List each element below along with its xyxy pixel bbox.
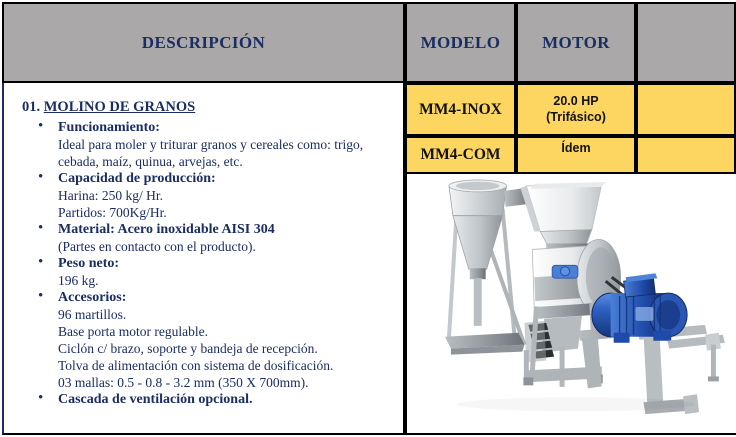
column-header-extra [636, 2, 736, 83]
spec-item: Material: Acero inoxidable AISI 304 (Par… [36, 221, 397, 255]
motor-power-value: Ídem [561, 141, 590, 157]
spec-line: 03 mallas: 0.5 - 0.8 - 3.2 mm (350 X 700… [58, 374, 397, 391]
column-header-motor-label: MOTOR [542, 33, 610, 53]
spec-line: Partidos: 700Kg/Hr. [58, 204, 397, 221]
spec-line: Base porta motor regulable. [58, 323, 397, 340]
spec-heading: Accesorios: [58, 289, 397, 306]
product-photo [405, 174, 736, 435]
table-row-model-1: MM4-COM [405, 136, 516, 174]
spec-heading: Cascada de ventilación opcional. [58, 391, 397, 408]
spec-line: (Partes en contacto con el producto). [58, 238, 397, 255]
spec-line: 96 martillos. [58, 306, 397, 323]
spec-heading: Funcionamiento: [58, 119, 397, 136]
motor-phase-value: (Trifásico) [546, 110, 606, 126]
column-header-modelo-label: MODELO [421, 33, 501, 53]
spec-line: Ideal para moler y triturar granos y cer… [58, 136, 397, 153]
table-row-extra-1 [636, 136, 736, 174]
table-row-model-0: MM4-INOX [405, 83, 516, 136]
column-header-motor: MOTOR [516, 2, 636, 83]
column-header-modelo: MODELO [405, 2, 516, 83]
spec-item: Cascada de ventilación opcional. [36, 391, 397, 408]
spec-line: Ciclón c/ brazo, soporte y bandeja de re… [58, 340, 397, 357]
spec-line: 196 kg. [58, 272, 397, 289]
table-row-motor-1: Ídem [516, 136, 636, 174]
table-row-motor-0: 20.0 HP (Trifásico) [516, 83, 636, 136]
grain-mill-machine-image [407, 174, 736, 433]
spec-item: Accesorios:96 martillos.Base porta motor… [36, 289, 397, 391]
spec-heading: Peso neto: [58, 255, 397, 272]
model-value: MM4-INOX [419, 101, 502, 119]
product-name: MOLINO DE GRANOS [44, 99, 195, 115]
description-cell: 01. MOLINO DE GRANOS Funcionamiento:Idea… [2, 83, 405, 435]
spec-item: Peso neto:196 kg. [36, 255, 397, 289]
spec-item: Capacidad de producción:Harina: 250 kg/ … [36, 170, 397, 221]
product-title: 01. MOLINO DE GRANOS [22, 99, 397, 116]
spec-list: Funcionamiento:Ideal para moler y tritur… [18, 119, 397, 408]
column-header-descripcion-label: DESCRIPCIÓN [142, 33, 265, 53]
spec-heading: Capacidad de producción: [58, 170, 397, 187]
spec-line: Harina: 250 kg/ Hr. [58, 187, 397, 204]
column-header-descripcion: DESCRIPCIÓN [2, 2, 405, 83]
table-row-extra-0 [636, 83, 736, 136]
spec-line: cebada, maíz, quinua, arvejas, etc. [58, 153, 397, 170]
motor-power-value: 20.0 HP [553, 94, 598, 110]
product-number: 01. [22, 99, 40, 115]
spec-sheet-table: DESCRIPCIÓN MODELO MOTOR MM4-INOX 20.0 H… [0, 0, 736, 437]
model-value: MM4-COM [420, 146, 500, 164]
spec-heading: Material: Acero inoxidable AISI 304 [58, 221, 397, 238]
spec-item: Funcionamiento:Ideal para moler y tritur… [36, 119, 397, 170]
spec-line: Tolva de alimentación con sistema de dos… [58, 357, 397, 374]
